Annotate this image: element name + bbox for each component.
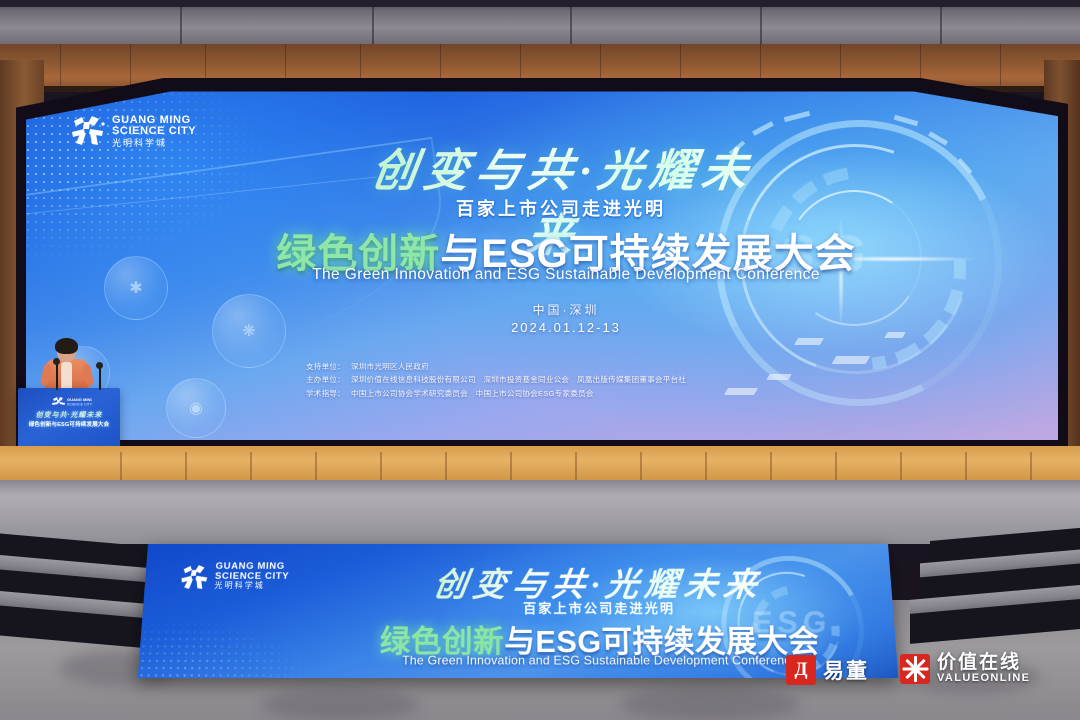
- credit-row: 支持单位： 深圳市光明区人民政府: [306, 360, 826, 373]
- svg-text:SCIENCE CITY: SCIENCE CITY: [67, 403, 92, 407]
- logo-line-cn: 光明科学城: [112, 139, 196, 148]
- speaker-person: [44, 340, 90, 392]
- banner-logo-cn: 光明科学城: [214, 582, 289, 590]
- valueonline-name-cn: 价值在线: [937, 653, 1030, 673]
- microphone-head-2: [96, 362, 103, 369]
- stage-front-wood-band: [0, 446, 1080, 482]
- subtitle-cn: 百家上市公司走进光明: [326, 195, 796, 221]
- yidong-mark-icon: Д: [786, 655, 816, 685]
- bubble-icon-globe: ◉: [166, 378, 226, 438]
- microphone-stem: [56, 362, 58, 390]
- bubble-icon-leaf: ❋: [212, 294, 286, 368]
- bubble-icon-windmill: ✱: [104, 256, 168, 320]
- guang-ming-light-glyph-icon: [70, 112, 106, 151]
- credit-value: 中国上市公司协会学术研究委员会 中国上市公司协会ESG专家委员会: [351, 387, 594, 400]
- led-screen: ✱ ❋ ✿ ◉ ESG: [26, 88, 1058, 440]
- credit-value: 深圳市光明区人民政府: [351, 360, 429, 373]
- podium-logo: GUANG MING SCIENCE CITY: [52, 394, 92, 405]
- main-title-en: The Green Innovation and ESG Sustainable…: [226, 266, 906, 284]
- svg-text:GUANG MING: GUANG MING: [67, 397, 92, 402]
- light-rays: [638, 270, 1058, 440]
- podium-main-title: 绿色创新与ESG可持续发展大会: [24, 421, 114, 429]
- yidong-glyph: Д: [794, 659, 807, 681]
- conference-stage-photo: ✱ ❋ ✿ ◉ ESG: [0, 0, 1080, 720]
- yidong-name-cn: 易董: [823, 655, 869, 685]
- speaker-hair: [55, 338, 78, 354]
- valueonline-name-en: VALUEONLINE: [937, 673, 1030, 685]
- credit-label: 支持单位：: [306, 360, 345, 373]
- logo-line-en-2: SCIENCE CITY: [112, 126, 196, 137]
- banner-logo-en-2: SCIENCE CITY: [215, 571, 290, 581]
- podium-title-block: 创变与共·光耀未来 绿色创新与ESG可持续发展大会: [24, 410, 114, 429]
- guang-ming-logo: GUANG MING SCIENCE CITY 光明科学城: [70, 112, 196, 151]
- podium-calligraphy: 创变与共·光耀未来: [24, 410, 114, 421]
- credit-value: 深圳价值在线信息科技股份有限公司 深圳市投资基金同业公会 凤凰出版传媒集团董事会…: [351, 373, 686, 386]
- credit-row: 学术指导： 中国上市公司协会学术研究委员会 中国上市公司协会ESG专家委员会: [306, 387, 826, 400]
- credit-label: 学术指导：: [306, 387, 345, 400]
- speaker-blouse: [61, 362, 72, 390]
- microphone-head: [53, 358, 60, 365]
- watermark-yidong: Д 易董: [786, 655, 869, 685]
- banner-subtitle-cn: 百家上市公司走进光明: [376, 598, 823, 617]
- stage-front-banner: GUANG MING SCIENCE CITY 光明科学城 ESG 创变与共·光…: [138, 544, 899, 678]
- banner-guang-ming-logo: GUANG MING SCIENCE CITY 光明科学城: [179, 562, 290, 590]
- valueonline-mark-icon: [900, 654, 930, 684]
- watermark-valueonline: 价值在线 VALUEONLINE: [900, 653, 1030, 684]
- microphone-stem-2: [99, 366, 101, 390]
- event-date: 2024.01.12-13: [416, 320, 716, 335]
- stage-floor-shadow: [0, 480, 1080, 496]
- credit-label: 主办单位：: [306, 373, 345, 386]
- credits-block: 支持单位： 深圳市光明区人民政府 主办单位： 深圳价值在线信息科技股份有限公司 …: [306, 360, 826, 400]
- ceiling-panels: [0, 0, 1080, 46]
- event-location: 中国·深圳: [416, 301, 716, 318]
- credit-row: 主办单位： 深圳价值在线信息科技股份有限公司 深圳市投资基金同业公会 凤凰出版传…: [306, 373, 826, 386]
